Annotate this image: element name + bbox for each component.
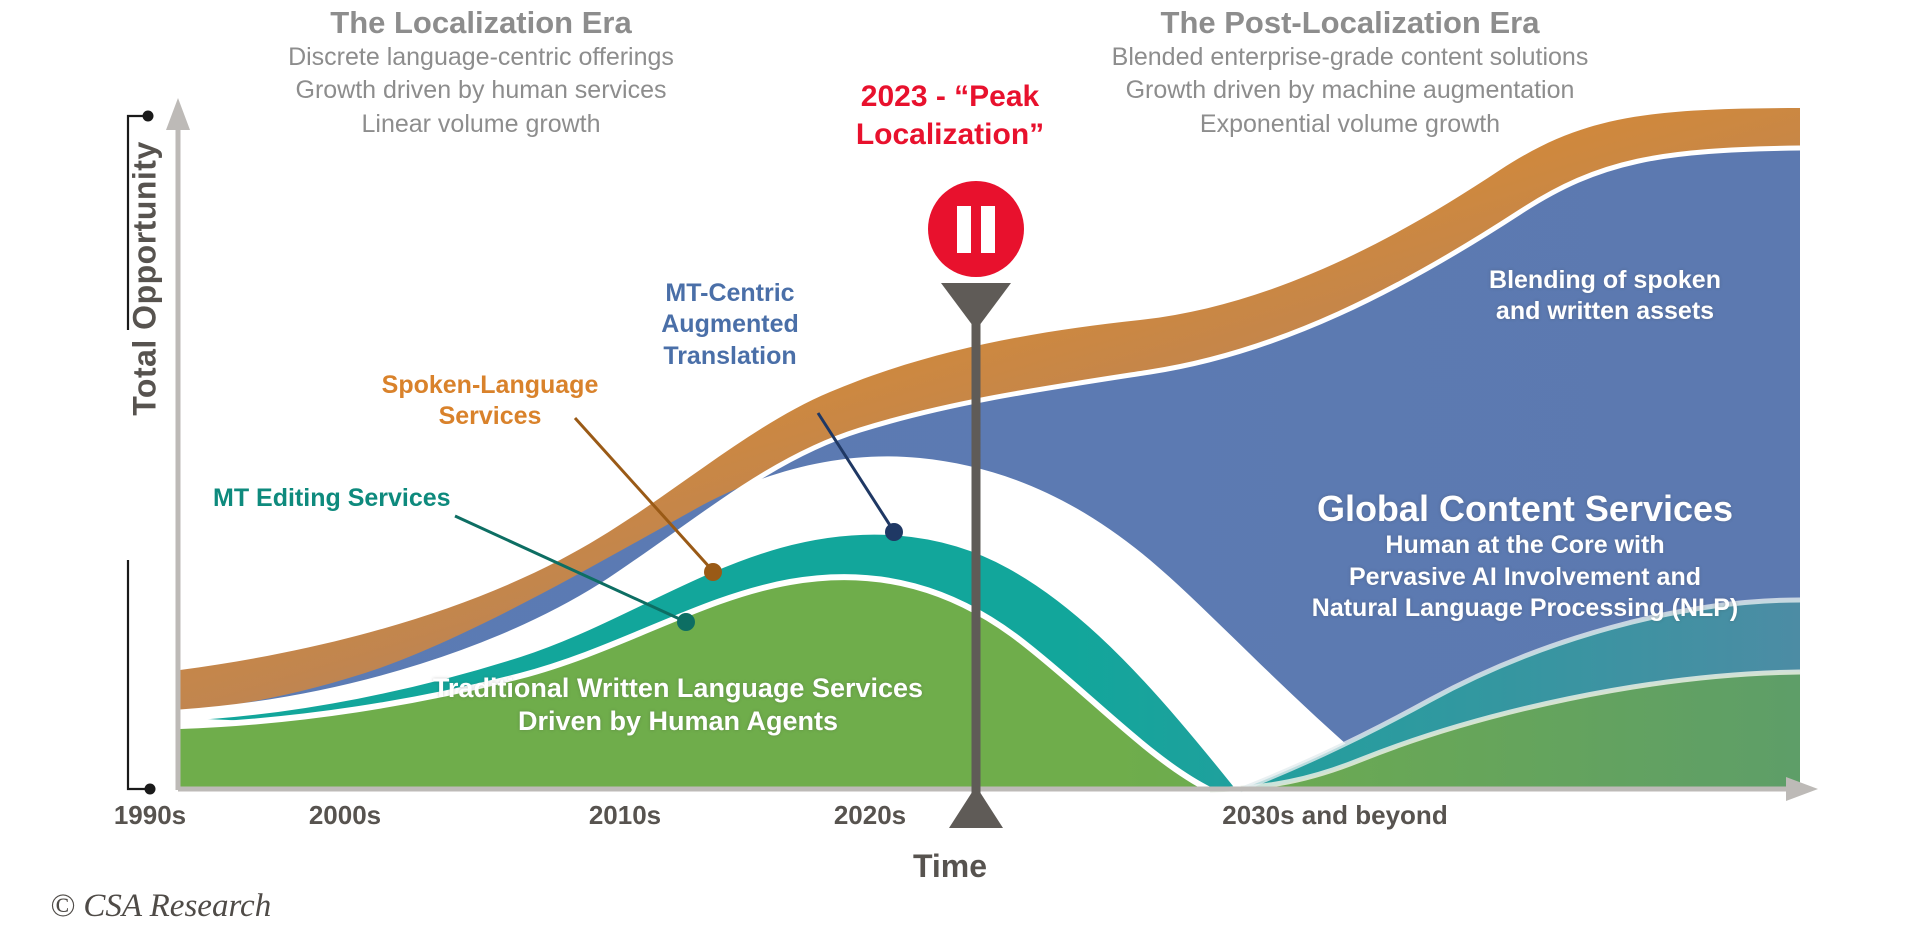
callout-mt-editing-line-1: MT Editing Services	[213, 483, 463, 514]
band-label-traditional-line-2: Driven by Human Agents	[398, 705, 958, 738]
era-left-line-2: Growth driven by human services	[181, 74, 781, 108]
gcs-line-3: Natural Language Processing (NLP)	[1290, 593, 1760, 625]
callout-mt-centric-line-3: Translation	[650, 341, 810, 372]
band-label-global-content-services: Global Content Services Human at the Cor…	[1290, 488, 1760, 625]
peak-label-line-2: Localization”	[800, 116, 1100, 154]
x-tick-2010s: 2010s	[560, 800, 690, 831]
band-label-blending-line-1: Blending of spoken	[1455, 265, 1755, 296]
gcs-line-2: Pervasive AI Involvement and	[1290, 562, 1760, 594]
infographic-canvas: The Localization Era Discrete language-c…	[0, 0, 1920, 937]
callout-mt-centric-line-2: Augmented	[650, 309, 810, 340]
band-label-traditional-line-1: Traditional Written Language Services	[398, 672, 958, 705]
gcs-title: Global Content Services	[1290, 488, 1760, 530]
x-tick-2000s: 2000s	[280, 800, 410, 831]
callout-spoken-line-2: Services	[375, 401, 605, 432]
x-tick-1990s: 1990s	[85, 800, 215, 831]
pause-icon-bar-right	[981, 206, 995, 253]
era-right-title: The Post-Localization Era	[900, 6, 1800, 41]
callout-spoken-language-services: Spoken-Language Services	[375, 370, 605, 433]
gcs-line-1: Human at the Core with	[1290, 530, 1760, 562]
y-axis-top-bracket-dot	[143, 111, 154, 122]
era-left-line-1: Discrete language-centric offerings	[181, 41, 781, 75]
callout-spoken-line-1: Spoken-Language	[375, 370, 605, 401]
pause-badge-circle	[928, 181, 1024, 277]
peak-pause-badge[interactable]	[928, 181, 1024, 277]
band-label-blending-line-2: and written assets	[1455, 296, 1755, 327]
callout-mt-centric-augmented-translation: MT-Centric Augmented Translation	[650, 278, 810, 372]
copyright-credit: © CSA Research	[50, 888, 271, 925]
pause-icon-bar-left	[957, 206, 971, 253]
peak-marker-bottom-triangle-icon	[949, 786, 1003, 828]
peak-label-line-1: 2023 - “Peak	[800, 78, 1100, 116]
y-axis-bottom-bracket	[128, 560, 150, 789]
era-left-title: The Localization Era	[181, 6, 781, 41]
era-left-line-3: Linear volume growth	[181, 108, 781, 142]
x-axis-arrow-icon	[1786, 777, 1818, 801]
y-axis-bottom-bracket-dot	[145, 784, 156, 795]
x-axis-title: Time	[820, 848, 1080, 885]
peak-localization-label: 2023 - “Peak Localization”	[800, 78, 1100, 155]
callout-mt-editing-services: MT Editing Services	[213, 483, 463, 514]
band-label-blending-assets: Blending of spoken and written assets	[1455, 265, 1755, 326]
y-axis-title: Total Opportunity	[127, 129, 164, 429]
x-tick-2020s: 2020s	[805, 800, 935, 831]
callout-mt-centric-line-1: MT-Centric	[650, 278, 810, 309]
peak-marker-top-triangle-icon	[941, 283, 1011, 330]
band-label-traditional-written: Traditional Written Language Services Dr…	[398, 672, 958, 738]
x-tick-2030s-and-beyond: 2030s and beyond	[1175, 800, 1495, 831]
era-right-line-1: Blended enterprise-grade content solutio…	[900, 41, 1800, 75]
era-header-localization: The Localization Era Discrete language-c…	[181, 6, 781, 141]
